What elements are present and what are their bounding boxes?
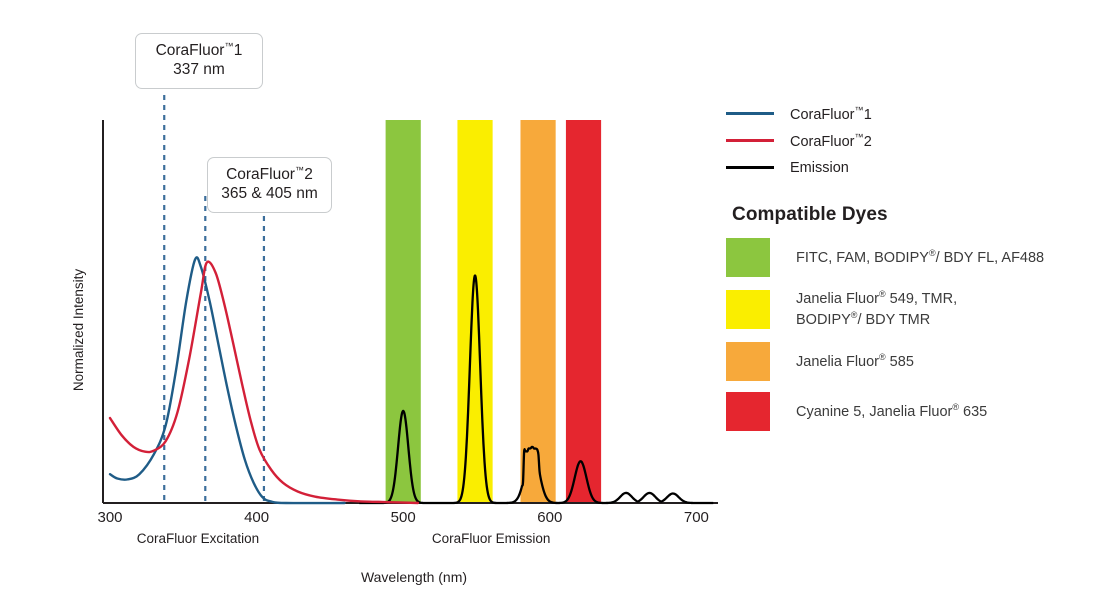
legend-item-label: CoraFluor™1 xyxy=(790,105,872,123)
emission-band-1 xyxy=(386,120,421,503)
excitation-curve-1 xyxy=(110,257,345,503)
legend-panel: CoraFluor™1CoraFluor™2Emission Compatibl… xyxy=(726,100,1110,442)
emission-band-3 xyxy=(520,120,555,503)
dye-item-2: Janelia Fluor® 549, TMR,BODIPY®/ BDY TMR xyxy=(726,288,1110,331)
callout-1-value: 337 nm xyxy=(148,61,250,80)
spectra-chart: 300400500600700CoraFluor ExcitationCoraF… xyxy=(0,0,730,612)
legend-line-swatch xyxy=(726,112,774,114)
legend-item-1: CoraFluor™1 xyxy=(726,100,1110,127)
dye-item-4: Cyanine 5, Janelia Fluor® 635 xyxy=(726,392,1110,431)
dye-color-swatch xyxy=(726,392,770,431)
chart-plot-area: 300400500600700CoraFluor ExcitationCoraF… xyxy=(0,0,730,612)
dye-label: Janelia Fluor® 585 xyxy=(796,351,914,372)
y-axis-title: Normalized Intensity xyxy=(71,269,86,392)
dye-color-swatch xyxy=(726,342,770,381)
dye-color-swatch xyxy=(726,290,770,329)
callout-2-value: 365 & 405 nm xyxy=(220,185,319,204)
callout-1-title: CoraFluor™1 xyxy=(148,41,250,61)
dye-color-swatch xyxy=(726,238,770,277)
compatible-dyes-title: Compatible Dyes xyxy=(732,204,1110,226)
dye-item-3: Janelia Fluor® 585 xyxy=(726,342,1110,381)
x-tick-700: 700 xyxy=(684,509,709,526)
legend-item-label: Emission xyxy=(790,160,849,176)
emission-band-4 xyxy=(566,120,601,503)
callout-corafluor-2: CoraFluor™2 365 & 405 nm xyxy=(207,157,332,213)
legend-item-label: CoraFluor™2 xyxy=(790,132,872,150)
dye-label: Janelia Fluor® 549, TMR,BODIPY®/ BDY TMR xyxy=(796,288,957,331)
legend-line-swatch xyxy=(726,166,774,168)
compatible-dyes-list: FITC, FAM, BODIPY®/ BDY FL, AF488Janelia… xyxy=(726,238,1110,431)
emission-band-2 xyxy=(457,120,492,503)
x-tick-400: 400 xyxy=(244,509,269,526)
series-legend: CoraFluor™1CoraFluor™2Emission xyxy=(726,100,1110,181)
dye-label: Cyanine 5, Janelia Fluor® 635 xyxy=(796,401,987,422)
legend-line-swatch xyxy=(726,139,774,141)
callout-corafluor-1: CoraFluor™1 337 nm xyxy=(135,33,263,89)
x-axis-title: Wavelength (nm) xyxy=(361,569,467,585)
x-tick-600: 600 xyxy=(537,509,562,526)
x-tick-300: 300 xyxy=(97,509,122,526)
dye-label: FITC, FAM, BODIPY®/ BDY FL, AF488 xyxy=(796,247,1044,268)
legend-item-2: CoraFluor™2 xyxy=(726,127,1110,154)
x-region-label-excitation: CoraFluor Excitation xyxy=(137,531,259,546)
callout-2-title: CoraFluor™2 xyxy=(220,165,319,185)
dye-item-1: FITC, FAM, BODIPY®/ BDY FL, AF488 xyxy=(726,238,1110,277)
legend-item-3: Emission xyxy=(726,154,1110,181)
x-tick-500: 500 xyxy=(391,509,416,526)
x-region-label-emission: CoraFluor Emission xyxy=(432,531,551,546)
